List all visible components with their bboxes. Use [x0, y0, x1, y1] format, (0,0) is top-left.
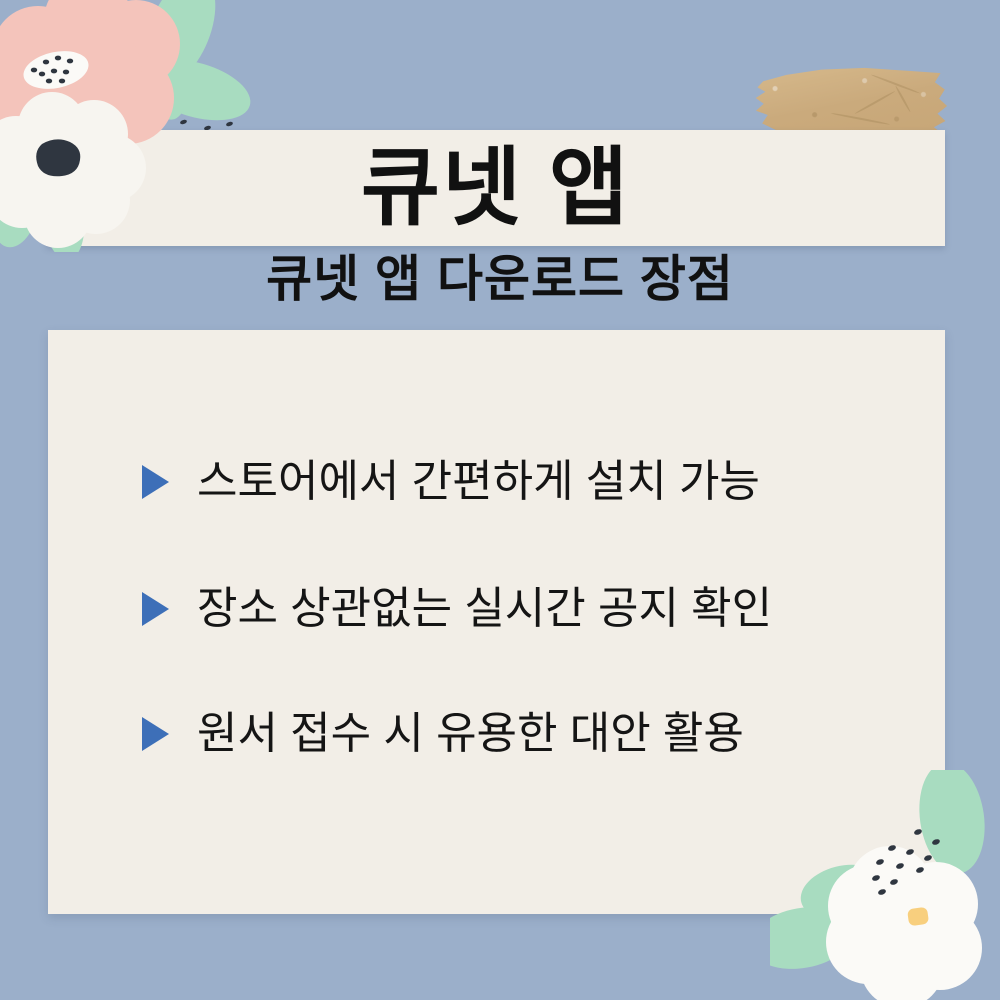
- list-item-label: 장소 상관없는 실시간 공지 확인: [197, 585, 772, 633]
- triangle-right-icon: [142, 717, 169, 751]
- flower-cluster-pink-white-icon: [0, 0, 278, 252]
- list-item-label: 원서 접수 시 유용한 대안 활용: [197, 710, 744, 758]
- triangle-right-icon: [142, 592, 169, 626]
- subtitle: 큐넷 앱 다운로드 장점: [0, 252, 1000, 307]
- poster-canvas: 큐넷 앱 큐넷 앱 다운로드 장점 스토어에서 간편하게 설치 가능 장소 상관…: [0, 0, 1000, 1000]
- list-item: 스토어에서 간편하게 설치 가능: [142, 458, 760, 506]
- triangle-right-icon: [142, 465, 169, 499]
- list-item: 원서 접수 시 유용한 대안 활용: [142, 710, 744, 758]
- list-item-label: 스토어에서 간편하게 설치 가능: [197, 458, 760, 506]
- list-item: 장소 상관없는 실시간 공지 확인: [142, 585, 772, 633]
- flower-cluster-white-icon: [770, 770, 1000, 1000]
